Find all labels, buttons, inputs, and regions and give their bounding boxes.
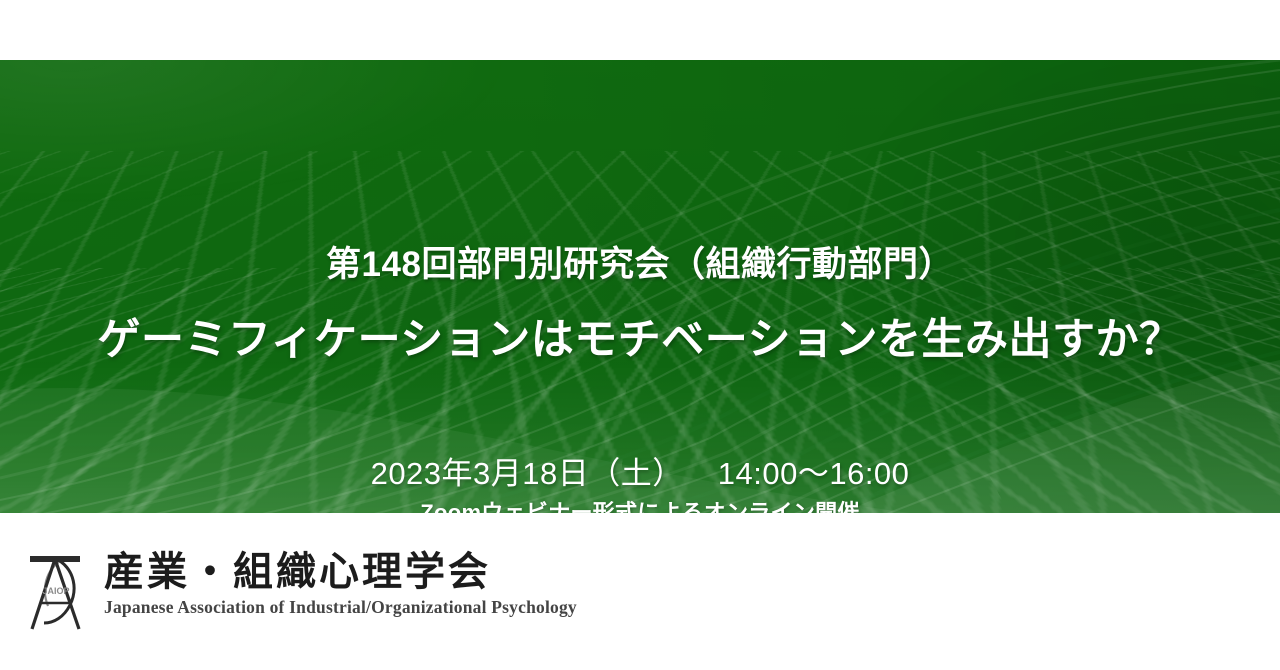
society-name-jp: 産業・組織心理学会 [104, 551, 577, 593]
event-date: 2023年3月18日（土） [371, 456, 684, 491]
society-logo: JAIOP 産業・組織心理学会 Japanese Association of … [26, 549, 577, 633]
green-banner: 第148回部門別研究会（組織行動部門） ゲーミフィケーションはモチベーションを生… [0, 60, 1280, 513]
top-ghost-text [222, 6, 622, 32]
event-time: 14:00〜16:00 [718, 456, 910, 491]
svg-text:JAIOP: JAIOP [42, 586, 69, 596]
top-ghost-text-right [1160, 8, 1220, 28]
event-datetime-row: 2023年3月18日（土）14:00〜16:00 [0, 448, 1280, 493]
event-series-title: 第148回部門別研究会（組織行動部門） [0, 244, 1280, 286]
event-format: Zoomウェビナー形式によるオンライン開催 [0, 495, 1280, 513]
slide-canvas: 第148回部門別研究会（組織行動部門） ゲーミフィケーションはモチベーションを生… [0, 0, 1280, 670]
banner-text-group: 第148回部門別研究会（組織行動部門） ゲーミフィケーションはモチベーションを生… [0, 60, 1280, 513]
society-name-en: Japanese Association of Industrial/Organ… [104, 597, 577, 618]
society-logo-text: 産業・組織心理学会 Japanese Association of Indust… [104, 549, 577, 618]
jaiop-monogram-icon: JAIOP [26, 549, 92, 633]
footer-area: JAIOP 産業・組織心理学会 Japanese Association of … [0, 513, 1280, 670]
event-main-title: ゲーミフィケーションはモチベーションを生み出すか？ [0, 315, 1280, 367]
top-white-strip [0, 0, 1280, 60]
